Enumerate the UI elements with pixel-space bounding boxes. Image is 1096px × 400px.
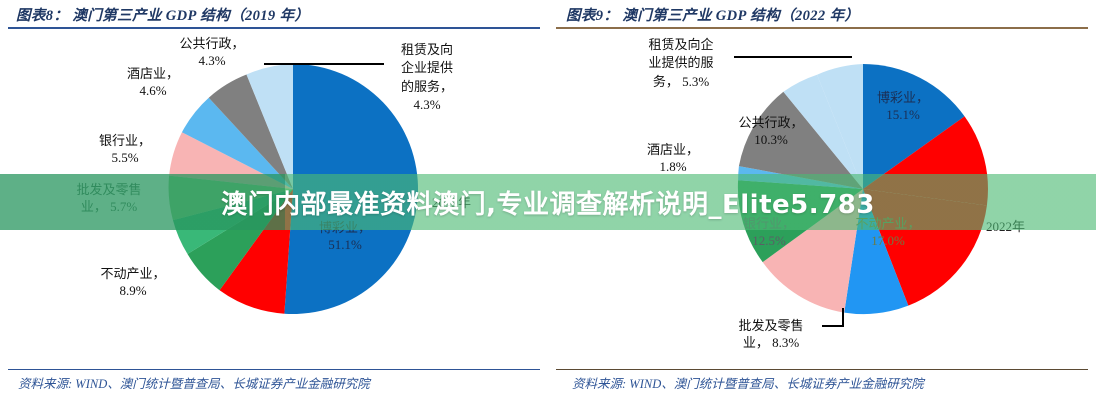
title-rule — [8, 27, 540, 29]
leader-line-leasing — [264, 63, 384, 65]
leader-line-wholesale-h — [822, 325, 844, 327]
chart-title-2022: 图表9： 澳门第三产业 GDP 结构（2022 年） — [566, 4, 859, 25]
title-rule — [556, 27, 1088, 29]
label-gaming: 博彩业， 15.1% — [858, 90, 948, 123]
label-wholesale: 批发及零售 业， 8.3% — [716, 318, 826, 351]
label-realestate: 不动产业， 8.9% — [78, 266, 188, 299]
label-wholesale: 批发及零售 业， 5.7% — [54, 182, 164, 215]
label-banking: 银行业， 5.5% — [80, 133, 170, 166]
pie-chart-2019 — [168, 58, 418, 320]
legend-2019: 2019年 — [432, 192, 471, 211]
figure-page: 图表8： 澳门第三产业 GDP 结构（2019 年） — [0, 0, 1096, 400]
source-rule — [8, 369, 540, 371]
label-hotel: 酒店业， 4.6% — [108, 66, 198, 99]
panel-2022: 图表9： 澳门第三产业 GDP 结构（2022 年） — [548, 0, 1096, 400]
label-realestate: 不动产业， 17.0% — [838, 216, 938, 249]
label-gaming: 博彩业， 51.1% — [300, 220, 390, 253]
label-publicadmin: 公共行政， 4.3% — [152, 36, 272, 69]
label-leasing: 租赁及向 企业提供 的服务， 4.3% — [382, 41, 472, 115]
panel-2019: 图表8： 澳门第三产业 GDP 结构（2019 年） — [0, 0, 548, 400]
chart-title-2019: 图表8： 澳门第三产业 GDP 结构（2019 年） — [16, 4, 309, 25]
label-leasing: 租赁及向企 业提供的服 务， 5.3% — [626, 36, 736, 91]
label-publicadmin: 公共行政， 10.3% — [721, 115, 821, 148]
label-hotel: 酒店业， 1.8% — [628, 142, 718, 175]
legend-2022: 2022年 — [986, 216, 1025, 235]
source-note-2022: 资料来源: WIND、澳门统计暨普查局、长城证券产业金融研究院 — [572, 373, 924, 392]
leader-line-wholesale-v — [842, 308, 844, 327]
leader-line-leasing — [734, 56, 852, 58]
label-banking: 银行业， 12.5% — [724, 216, 814, 249]
source-rule — [556, 369, 1088, 371]
source-note-2019: 资料来源: WIND、澳门统计暨普查局、长城证券产业金融研究院 — [18, 373, 370, 392]
